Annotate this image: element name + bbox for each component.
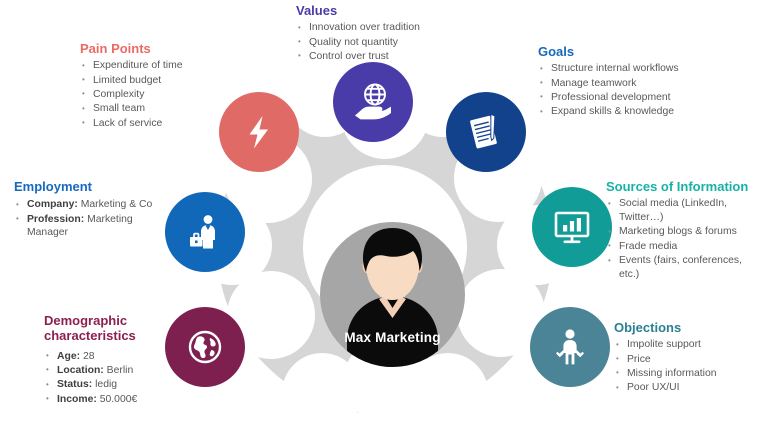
persona-diagram: Max Marketing (0, 0, 770, 433)
list-item: Price (614, 353, 764, 367)
list-item: Structure internal workflows (538, 62, 713, 76)
values-block: Values Innovation over tradition Quality… (296, 3, 456, 64)
lightning-bolt-icon (239, 112, 279, 152)
list-item: Age: 28 (44, 350, 164, 364)
list-item: Complexity (80, 88, 230, 102)
list-item: Small team (80, 102, 230, 116)
list-item: Expenditure of time (80, 59, 230, 73)
list-item: Missing information (614, 367, 764, 381)
sources-of-information-block: Sources of Information Social media (Lin… (606, 179, 764, 282)
center-avatar-label: Max Marketing (320, 330, 465, 345)
objections-node[interactable] (530, 307, 610, 387)
business-person-briefcase-icon (183, 210, 227, 254)
standing-person-icon (549, 326, 591, 368)
pain-points-block: Pain Points Expenditure of time Limited … (80, 41, 230, 131)
goals-block: Goals Structure internal workflows Manag… (538, 44, 713, 120)
list-item: Company: Marketing & Co (14, 198, 159, 212)
globe-earth-icon (183, 325, 227, 369)
values-node[interactable] (333, 62, 413, 142)
list-item: Control over trust (296, 50, 456, 64)
list-item: Marketing blogs & forums (606, 225, 764, 239)
list-item: Impolite support (614, 338, 764, 352)
notepad-pen-icon (465, 111, 507, 153)
list-item: Social media (LinkedIn, Twitter…) (606, 197, 764, 225)
objections-block: Objections Impolite support Price Missin… (614, 320, 764, 396)
list-item: Professional development (538, 91, 713, 105)
employment-heading: Employment (14, 179, 159, 194)
goals-heading: Goals (538, 44, 713, 59)
pain-points-list: Expenditure of time Limited budget Compl… (80, 59, 230, 130)
list-item: Location: Berlin (44, 364, 164, 378)
sources-of-information-list: Social media (LinkedIn, Twitter…) Market… (606, 197, 764, 281)
hand-holding-globe-icon (350, 79, 396, 125)
list-item: Manage teamwork (538, 77, 713, 91)
values-list: Innovation over tradition Quality not qu… (296, 21, 456, 63)
objections-heading: Objections (614, 320, 764, 335)
employment-list: Company: Marketing & Co Profession: Mark… (14, 198, 159, 240)
center-avatar (320, 222, 465, 367)
pain-points-heading: Pain Points (80, 41, 230, 56)
list-item: Poor UX/UI (614, 381, 764, 395)
goals-list: Structure internal workflows Manage team… (538, 62, 713, 119)
list-item: Frade media (606, 240, 764, 254)
pain-points-node[interactable] (219, 92, 299, 172)
monitor-bar-chart-icon (550, 205, 594, 249)
list-item: Events (fairs, conferences, etc.) (606, 254, 764, 282)
list-item: Innovation over tradition (296, 21, 456, 35)
employment-node[interactable] (165, 192, 245, 272)
sources-of-information-node[interactable] (532, 187, 612, 267)
demographic-characteristics-heading: Demographic characteristics (44, 313, 164, 344)
list-item: Expand skills & knowledge (538, 105, 713, 119)
demographic-characteristics-node[interactable] (165, 307, 245, 387)
list-item: Lack of service (80, 117, 230, 131)
list-item: Quality not quantity (296, 36, 456, 50)
list-item: Profession: Marketing Manager (14, 213, 159, 241)
goals-node[interactable] (446, 92, 526, 172)
list-item: Limited budget (80, 74, 230, 88)
demographic-characteristics-block: Demographic characteristics Age: 28 Loca… (44, 313, 164, 407)
list-item: Income: 50.000€ (44, 393, 164, 407)
demographic-characteristics-list: Age: 28 Location: Berlin Status: ledig I… (44, 350, 164, 407)
list-item: Status: ledig (44, 378, 164, 392)
sources-of-information-heading: Sources of Information (606, 179, 764, 194)
employment-block: Employment Company: Marketing & Co Profe… (14, 179, 159, 241)
values-heading: Values (296, 3, 456, 18)
objections-list: Impolite support Price Missing informati… (614, 338, 764, 395)
